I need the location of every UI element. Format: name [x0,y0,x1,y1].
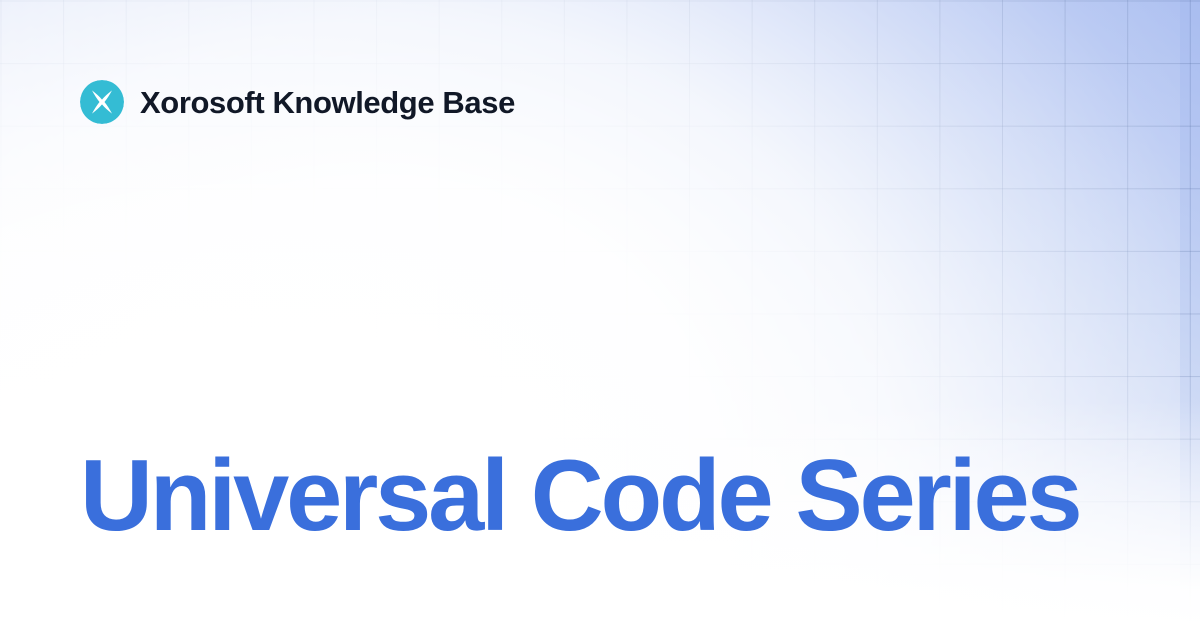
brand-header: Xorosoft Knowledge Base [80,78,515,126]
brand-name: Xorosoft Knowledge Base [140,87,515,118]
page-title: Universal Code Series [80,443,1120,550]
og-share-card: Xorosoft Knowledge Base Universal Code S… [0,0,1200,630]
xorosoft-x-mark-icon [80,80,124,124]
